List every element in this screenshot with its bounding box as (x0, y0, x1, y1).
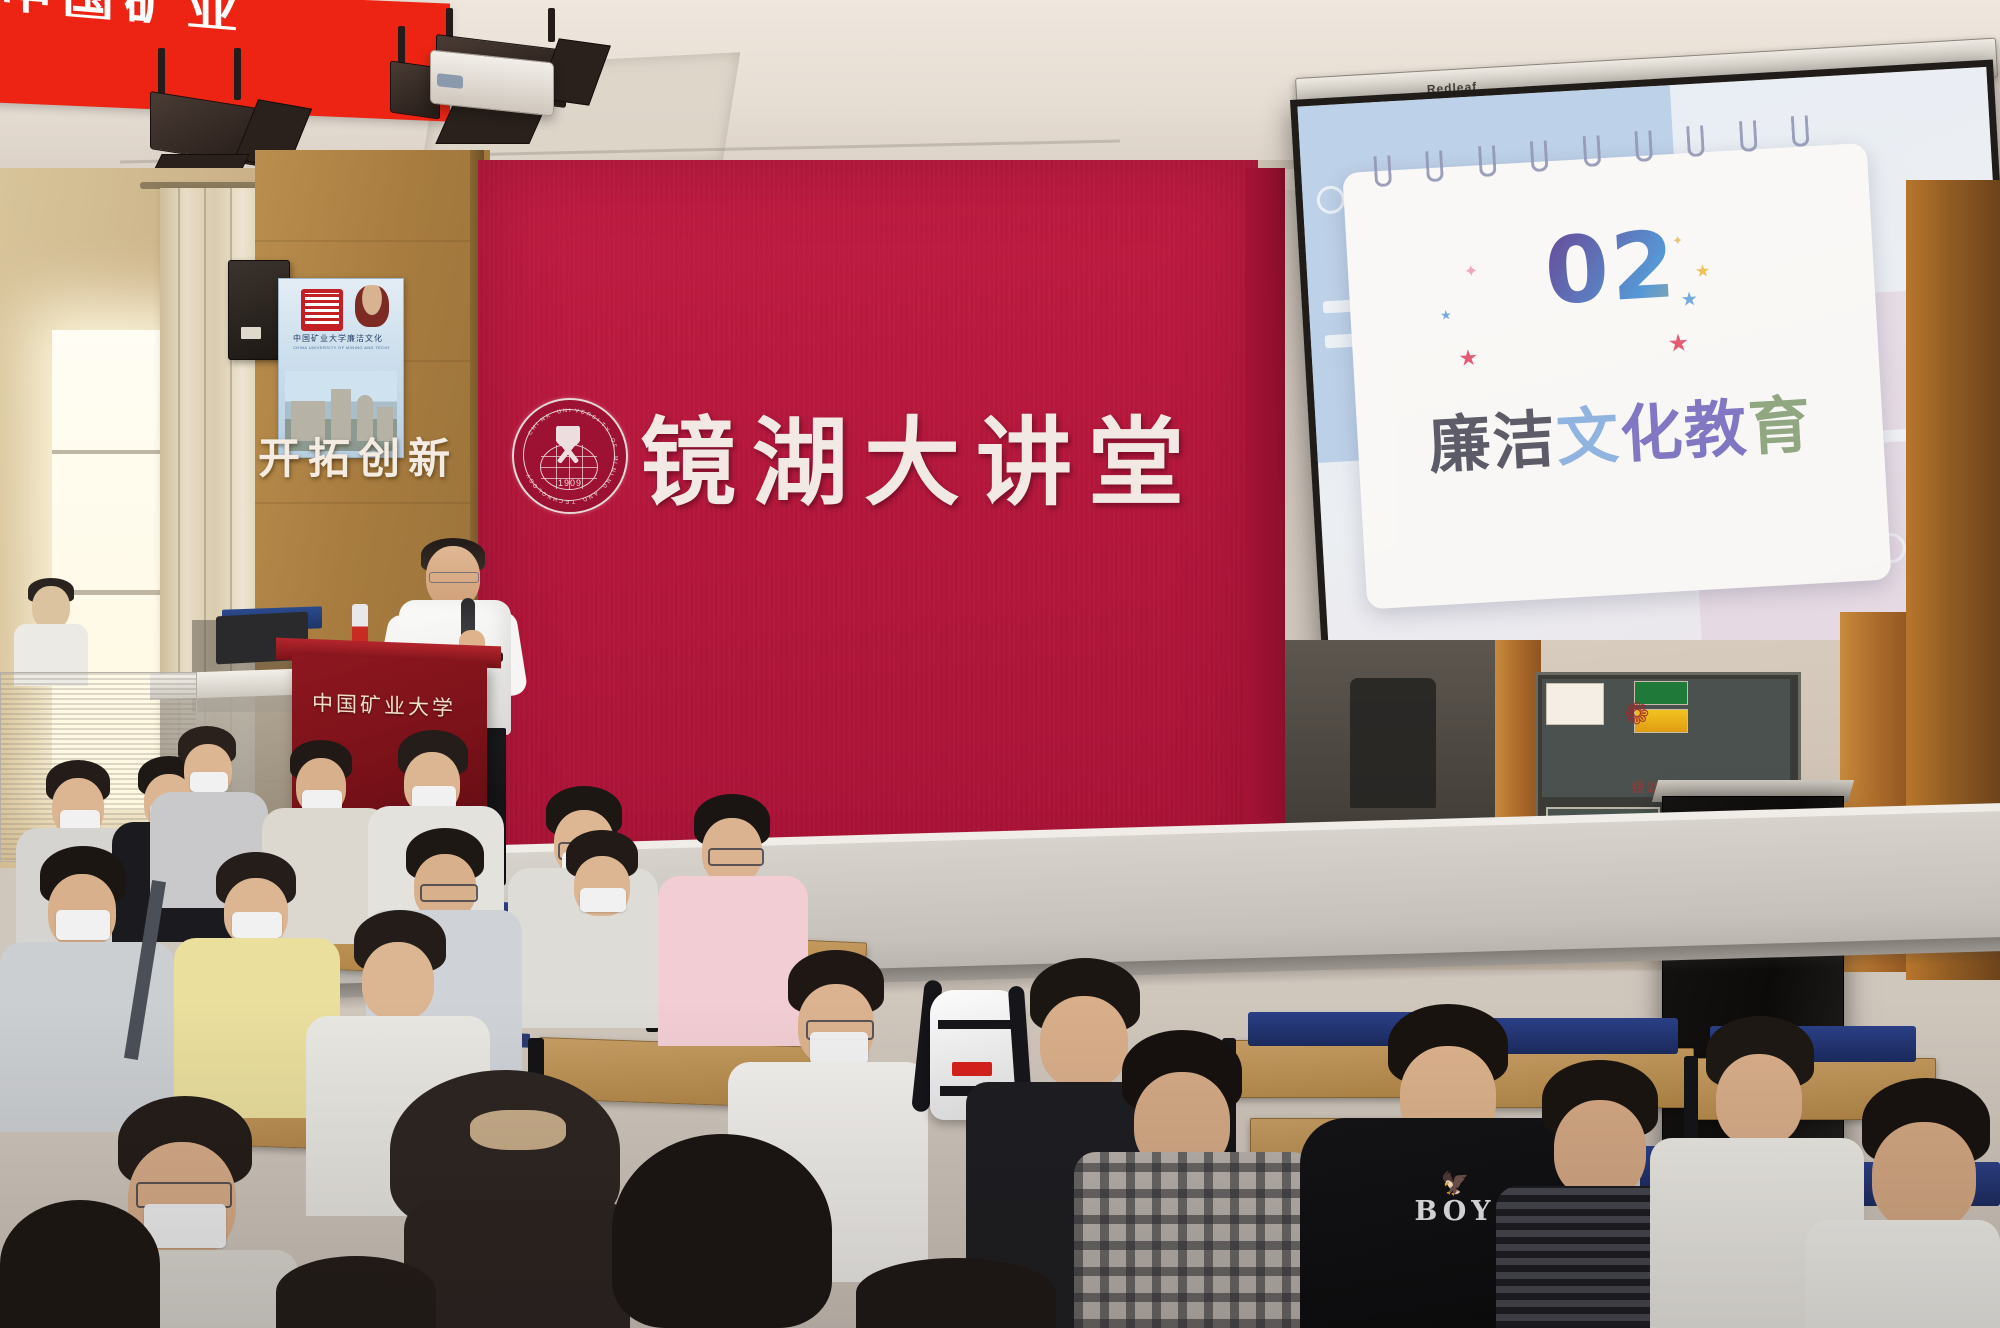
audience-head (1040, 996, 1128, 1088)
slide-title-char: 化 (1618, 395, 1686, 472)
hair-clip (470, 1110, 566, 1150)
slide-title-wrap: 廉洁文化教育 (1356, 370, 1885, 490)
stage-banner-title: 镜湖大讲堂 (640, 385, 1200, 524)
poster-title-cn: 中国矿业大学廉洁文化 (293, 333, 389, 344)
face-mask (190, 772, 228, 792)
audience-body (658, 876, 808, 1046)
slide-title-char: 洁 (1491, 403, 1559, 480)
stage-backdrop-wall (478, 160, 1258, 895)
backpack-logo-patch (952, 1062, 992, 1076)
audience-hair (856, 1258, 1056, 1328)
slide-card: 02 ✦ ★ ★ ✦ ★ ★ ★ 廉洁文化教育 (1343, 143, 1892, 609)
audience-body (1074, 1152, 1314, 1328)
star-icon: ★ (1458, 345, 1479, 372)
podium-text: 中国矿业大学 (312, 687, 472, 723)
slide-title-char: 廉 (1427, 406, 1495, 483)
slide-title: 廉洁文化教育 (1356, 370, 1885, 490)
face-mask (144, 1204, 226, 1248)
audience-hair (276, 1256, 436, 1328)
slide-title-char: 文 (1554, 399, 1622, 476)
poster-title-en: CHINA UNIVERSITY OF MINING AND TECHNOLOG… (293, 345, 389, 350)
audience-head (1872, 1122, 1976, 1230)
slide-section-number-wrap: 02 (1346, 200, 1876, 337)
eagle-icon: 🦅 (1418, 1170, 1492, 1196)
audience-body (404, 1200, 630, 1328)
face-mask (232, 912, 282, 938)
star-icon: ✦ (1672, 232, 1684, 249)
star-icon: ✦ (1463, 262, 1478, 283)
slide-title-char: 教 (1682, 391, 1750, 468)
projection-screen: 02 ✦ ★ ★ ✦ ★ ★ ★ 廉洁文化教育 (1290, 59, 2000, 688)
wood-panel-slogan: 开拓创新 (258, 425, 458, 486)
star-icon: ★ (1694, 261, 1710, 282)
eyeglasses (708, 848, 764, 866)
audience-hair (612, 1134, 832, 1328)
slide-title-char: 育 (1746, 388, 1814, 465)
shirt-logo-text: BOY (1400, 1196, 1510, 1227)
audience-head (1554, 1100, 1646, 1198)
university-emblem-icon: 1909 CHINA UNIVERSITY OF MINING AND TECH… (512, 398, 628, 514)
seat-cushion (1478, 1018, 1678, 1054)
audience-hair (0, 1200, 160, 1328)
audience-body (1806, 1220, 2000, 1328)
star-icon: ★ (1680, 288, 1698, 312)
stage-backdrop-wall-right (1245, 168, 1285, 868)
speaker-label (241, 327, 261, 339)
audience-head (1716, 1054, 1802, 1146)
face-mask (580, 888, 626, 912)
poster-portrait (355, 285, 389, 327)
stacked-chair (1350, 678, 1436, 808)
face-mask (810, 1032, 868, 1064)
slide-section-number: 02 (1346, 200, 1876, 337)
poster-seal-icon (301, 289, 343, 331)
overhead-banner-text: 中国矿业大学 (0, 0, 300, 36)
star-icon: ★ (1667, 328, 1690, 358)
face-mask (56, 910, 110, 940)
eyeglasses (420, 884, 478, 902)
presenter-glasses (429, 572, 479, 583)
door-notice-sign (1546, 683, 1604, 725)
door-emblem-icon: ❁ (1616, 697, 1658, 737)
presentation-slide: 02 ✦ ★ ★ ✦ ★ ★ ★ 廉洁文化教育 (1297, 67, 2000, 681)
star-icon: ★ (1440, 307, 1453, 324)
audience-head (362, 942, 434, 1020)
lecture-hall-photo: 中国矿业大学 (0, 0, 2000, 1328)
